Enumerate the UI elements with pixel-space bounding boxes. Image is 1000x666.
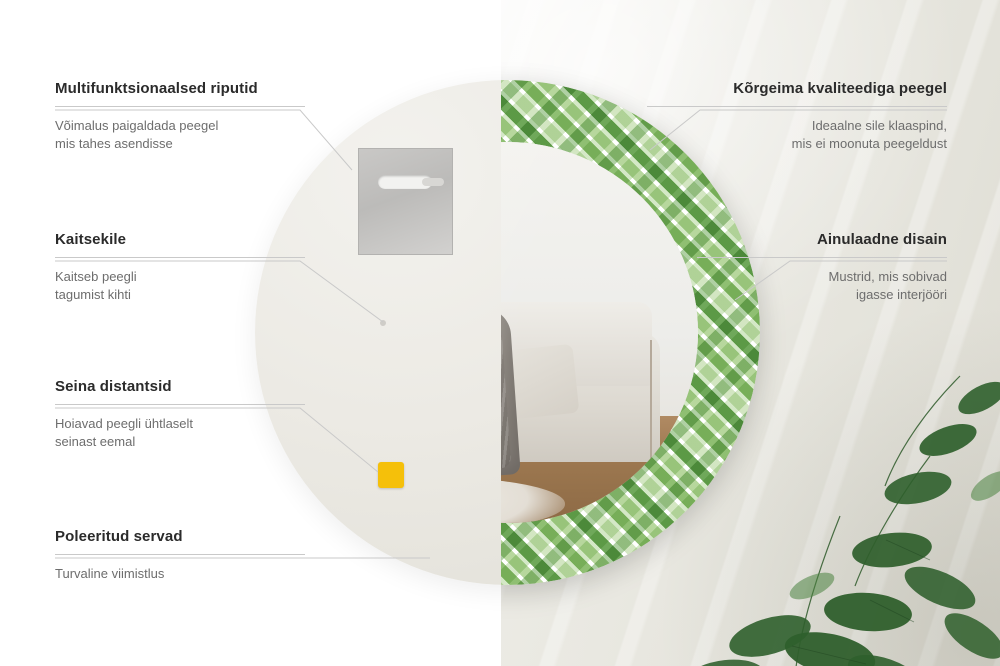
callout-title: Multifunktsionaalsed riputid [55,80,305,97]
callout-title: Seina distantsid [55,378,305,395]
callout-divider [55,554,305,555]
callout-divider [55,257,305,258]
callout-description: Mustrid, mis sobivad igasse interjööri [697,268,947,304]
protective-film-dot-icon [380,320,386,326]
callout-title: Kõrgeima kvaliteediga peegel [647,80,947,97]
callout-divider [55,106,305,107]
callout-unique-design: Ainulaadne disain Mustrid, mis sobivad i… [697,231,947,304]
hanger-slot-icon [378,175,432,189]
callout-divider [697,257,947,258]
callout-description: Kaitseb peegli tagumist kihti [55,268,305,304]
decorative-leaves [630,336,1000,666]
hanger-plate-icon [358,148,453,255]
callout-title: Ainulaadne disain [697,231,947,248]
wall-spacer-icon [378,462,404,488]
callout-description: Turvaline viimistlus [55,565,305,583]
callout-protective-film: Kaitsekile Kaitseb peegli tagumist kihti [55,231,305,304]
callout-description: Võimalus paigaldada peegel mis tahes ase… [55,117,305,153]
callout-top-quality-mirror: Kõrgeima kvaliteediga peegel Ideaalne si… [647,80,947,153]
product-infographic: Multifunktsionaalsed riputid Võimalus pa… [0,0,1000,666]
callout-hangers: Multifunktsionaalsed riputid Võimalus pa… [55,80,305,153]
callout-wall-spacers: Seina distantsid Hoiavad peegli ühtlasel… [55,378,305,451]
callout-title: Kaitsekile [55,231,305,248]
callout-divider [647,106,947,107]
callout-title: Poleeritud servad [55,528,305,545]
callout-divider [55,404,305,405]
callout-description: Ideaalne sile klaaspind, mis ei moonuta … [647,117,947,153]
callout-description: Hoiavad peegli ühtlaselt seinast eemal [55,415,305,451]
callout-polished-edges: Poleeritud servad Turvaline viimistlus [55,528,305,583]
